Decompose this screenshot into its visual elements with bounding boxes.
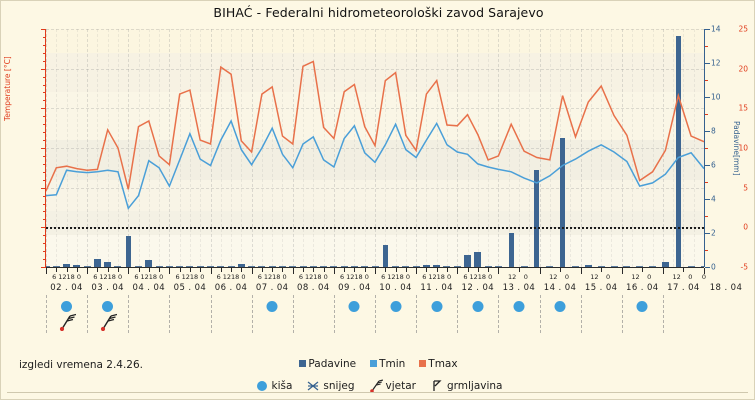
hour-label: 12 <box>99 273 107 281</box>
hour-label: 0 <box>565 273 569 281</box>
date-label: 07 . 04 <box>256 283 289 293</box>
date-label: 04 . 04 <box>133 283 166 293</box>
time-axis-tick <box>67 268 68 272</box>
hour-label: 18 <box>437 273 445 281</box>
hour-label: 12 <box>590 273 598 281</box>
axis-tick-minor <box>705 46 708 47</box>
date-label: 08 . 04 <box>297 283 330 293</box>
day-weather-symbols <box>267 301 278 312</box>
legend-label: snijeg <box>323 380 354 392</box>
time-axis-tick <box>478 268 479 272</box>
rain-drop-icon <box>349 301 360 312</box>
weather-forecast-chart-window: BIHAĆ - Federalni hidrometeorološki zavo… <box>0 0 755 400</box>
time-axis-tick <box>426 268 427 272</box>
axis-tick-minor <box>43 53 46 54</box>
day-separator <box>169 295 170 333</box>
hour-label: 0 <box>118 273 122 281</box>
time-axis-tick <box>488 268 489 272</box>
day-weather-symbols <box>99 301 117 331</box>
axis-tick-major <box>41 108 46 109</box>
date-label: 14 . 04 <box>544 283 577 293</box>
day-separator <box>46 295 47 333</box>
precipitation-tick-label: 14 <box>711 25 721 34</box>
legend-series-row: PadavineTminTmax <box>1 353 755 372</box>
axis-tick-minor <box>43 156 46 157</box>
tmin-line <box>46 121 704 208</box>
hour-label: 0 <box>524 273 528 281</box>
axis-tick-major <box>705 131 710 132</box>
day-weather-symbols <box>390 301 401 312</box>
zero-degree-line <box>46 227 704 229</box>
time-axis-tick <box>128 268 129 274</box>
time-axis-tick <box>622 268 623 274</box>
day-weather-symbols <box>555 301 566 312</box>
time-axis-tick <box>344 268 345 272</box>
hour-label: 6 <box>93 273 97 281</box>
axis-tick-major <box>705 233 710 234</box>
date-label: 18 . 04 <box>710 283 743 293</box>
time-axis-tick <box>221 268 222 272</box>
hour-label: 0 <box>241 273 245 281</box>
time-axis-tick <box>365 268 366 272</box>
day-separator <box>457 295 458 333</box>
day-weather-symbols <box>58 301 76 331</box>
axis-tick-major <box>41 227 46 228</box>
precipitation-tick-label: 8 <box>711 127 716 136</box>
time-axis-tick <box>396 268 397 272</box>
legend-swatch-icon <box>370 360 377 367</box>
time-axis-tick <box>56 268 57 272</box>
temperature-tick-label: 15 <box>738 104 748 113</box>
day-separator <box>663 295 664 333</box>
time-axis-tick <box>77 268 78 272</box>
rain-drop-icon <box>637 301 648 312</box>
legend-item-snijeg[interactable]: snijeg <box>306 379 354 393</box>
hour-label: 0 <box>606 273 610 281</box>
date-label: 06 . 04 <box>215 283 248 293</box>
precipitation-tick-label: 4 <box>711 195 716 204</box>
time-axis-tick <box>375 268 376 274</box>
hour-label: 6 <box>422 273 426 281</box>
time-axis-tick <box>303 268 304 272</box>
axis-tick-minor <box>705 80 708 81</box>
hour-label: 12 <box>182 273 190 281</box>
axis-tick-minor <box>705 250 708 251</box>
date-label: 03 . 04 <box>91 283 124 293</box>
axis-tick-major <box>41 69 46 70</box>
time-axis-tick <box>437 268 438 272</box>
hour-label: 6 <box>463 273 467 281</box>
temperature-axis <box>45 29 46 267</box>
hour-label: 18 <box>478 273 486 281</box>
hour-label: 0 <box>324 273 328 281</box>
time-axis-tick <box>180 268 181 272</box>
tmax-line <box>46 62 704 191</box>
footer-divider <box>7 392 748 393</box>
time-axis-tick <box>190 268 191 272</box>
legend-item-kiša[interactable]: kiša <box>255 379 293 393</box>
date-label: 13 . 04 <box>503 283 536 293</box>
time-axis-tick <box>252 268 253 274</box>
day-separator <box>293 295 294 333</box>
time-axis-tick <box>416 268 417 274</box>
precipitation-axis <box>704 29 705 267</box>
time-axis-tick <box>581 268 582 274</box>
temperature-tick-label: 10 <box>738 144 748 153</box>
day-weather-symbols <box>431 301 442 312</box>
hour-label: 12 <box>264 273 272 281</box>
axis-tick-minor <box>43 172 46 173</box>
day-weather-symbols <box>472 301 483 312</box>
hour-label: 6 <box>217 273 221 281</box>
wind-barb-icon <box>99 313 117 331</box>
hour-label: 12 <box>387 273 395 281</box>
time-axis-tick <box>118 268 119 272</box>
time-axis-tick <box>169 268 170 274</box>
hour-label: 12 <box>223 273 231 281</box>
hour-label: 0 <box>447 273 451 281</box>
hour-label: 12 <box>346 273 354 281</box>
hour-label: 12 <box>141 273 149 281</box>
axis-tick-minor <box>43 92 46 93</box>
time-axis-tick <box>663 268 664 274</box>
temperature-tick-label: 20 <box>738 64 748 73</box>
axis-tick-minor <box>43 85 46 86</box>
time-axis-tick <box>159 268 160 272</box>
axis-tick-minor <box>43 77 46 78</box>
day-weather-symbols <box>637 301 648 312</box>
legend-label: kiša <box>272 380 293 392</box>
time-axis-tick <box>498 268 499 274</box>
hour-label: 18 <box>354 273 362 281</box>
precipitation-tick-label: 6 <box>711 161 716 170</box>
hour-label: 18 <box>231 273 239 281</box>
rain-drop-icon <box>61 301 72 312</box>
time-axis-tick <box>87 268 88 274</box>
legend-label: Tmin <box>379 358 405 370</box>
day-separator <box>87 295 88 333</box>
precipitation-tick-label: 10 <box>711 93 721 102</box>
time-axis-tick <box>642 268 643 272</box>
hour-label: 12 <box>58 273 66 281</box>
hour-label: 12 <box>305 273 313 281</box>
day-separator <box>416 295 417 333</box>
axis-tick-minor <box>43 196 46 197</box>
day-separator <box>622 295 623 333</box>
time-axis-tick <box>519 268 520 272</box>
time-axis-tick <box>560 268 561 272</box>
wind-barb-icon <box>369 379 383 393</box>
axis-tick-minor <box>705 114 708 115</box>
legend-item-grmljavina[interactable]: grmljavina <box>430 379 503 393</box>
axis-tick-major <box>705 199 710 200</box>
axis-tick-minor <box>43 259 46 260</box>
axis-tick-minor <box>43 204 46 205</box>
axis-tick-minor <box>43 100 46 101</box>
temperature-curves <box>46 29 704 267</box>
hour-label: 0 <box>688 273 692 281</box>
hour-label: 6 <box>340 273 344 281</box>
hour-label: 12 <box>508 273 516 281</box>
hour-label: 12 <box>672 273 680 281</box>
hour-label: 18 <box>108 273 116 281</box>
time-axis-tick <box>282 268 283 272</box>
axis-tick-minor <box>43 132 46 133</box>
day-weather-symbols <box>513 301 524 312</box>
legend-label: vjetar <box>386 380 416 392</box>
time-axis-tick <box>211 268 212 274</box>
precipitation-tick-label: 2 <box>711 229 716 238</box>
axis-tick-minor <box>43 164 46 165</box>
rain-drop-icon <box>513 301 524 312</box>
hour-label: 0 <box>406 273 410 281</box>
date-label: 15 . 04 <box>585 283 618 293</box>
hour-label: 6 <box>52 273 56 281</box>
hour-label: 0 <box>365 273 369 281</box>
rain-drop-icon <box>267 301 278 312</box>
time-axis-tick <box>139 268 140 272</box>
rain-drop-icon <box>102 301 113 312</box>
hour-label: 12 <box>549 273 557 281</box>
hour-label: 0 <box>200 273 204 281</box>
page-title: BIHAĆ - Federalni hidrometeorološki zavo… <box>1 5 755 20</box>
date-label: 05 . 04 <box>174 283 207 293</box>
rain-drop-icon <box>390 301 401 312</box>
hour-label: 6 <box>134 273 138 281</box>
axis-tick-major <box>705 165 710 166</box>
time-axis-tick <box>540 268 541 274</box>
time-axis-tick <box>272 268 273 272</box>
time-axis-tick <box>406 268 407 272</box>
temperature-tick-label: 0 <box>743 223 748 232</box>
axis-tick-minor <box>43 37 46 38</box>
axis-tick-major <box>705 97 710 98</box>
axis-tick-major <box>41 148 46 149</box>
legend-item-tmin[interactable]: Tmin <box>370 358 405 370</box>
hour-label: 0 <box>282 273 286 281</box>
hour-label: 18 <box>313 273 321 281</box>
hour-label: 6 <box>176 273 180 281</box>
rain-drop-icon <box>255 379 269 393</box>
time-axis-tick <box>262 268 263 272</box>
precipitation-tick-label: 12 <box>711 59 721 68</box>
axis-tick-minor <box>43 219 46 220</box>
hour-label: 12 <box>428 273 436 281</box>
time-axis-tick <box>683 268 684 272</box>
legend-item-padavine[interactable]: Padavine <box>299 358 356 370</box>
time-axis-tick <box>313 268 314 272</box>
hour-label: 6 <box>299 273 303 281</box>
legend-label: Padavine <box>308 358 356 370</box>
temperature-axis-title: Temperature [°C] <box>3 56 12 121</box>
temperature-tick-label: -5 <box>741 263 748 272</box>
time-axis-tick <box>200 268 201 272</box>
axis-tick-minor <box>43 61 46 62</box>
axis-tick-major <box>705 267 710 268</box>
day-separator <box>375 295 376 333</box>
legend-item-vjetar[interactable]: vjetar <box>369 379 416 393</box>
time-axis-tick <box>46 268 47 274</box>
hour-label: 0 <box>647 273 651 281</box>
hour-label: 0 <box>77 273 81 281</box>
legend-swatch-icon <box>299 360 306 367</box>
axis-tick-minor <box>705 148 708 149</box>
axis-tick-minor <box>43 243 46 244</box>
axis-tick-major <box>41 29 46 30</box>
hour-label: 18 <box>67 273 75 281</box>
wind-barb-icon <box>58 313 76 331</box>
date-label: 12 . 04 <box>462 283 495 293</box>
legend-label: Tmax <box>428 358 457 370</box>
date-label: 09 . 04 <box>338 283 371 293</box>
axis-tick-minor <box>43 180 46 181</box>
hour-label: 12 <box>470 273 478 281</box>
date-label: 17 . 04 <box>667 283 700 293</box>
axis-tick-major <box>705 63 710 64</box>
day-separator <box>581 295 582 333</box>
hour-label: 18 <box>149 273 157 281</box>
temperature-tick-label: 25 <box>738 25 748 34</box>
time-axis-tick <box>293 268 294 274</box>
date-label: 16 . 04 <box>626 283 659 293</box>
precipitation-tick-label: 0 <box>711 263 716 272</box>
axis-tick-minor <box>705 216 708 217</box>
time-axis-tick <box>385 268 386 272</box>
chart-plot-area <box>46 29 704 267</box>
time-axis-tick <box>149 268 150 272</box>
axis-tick-minor <box>705 182 708 183</box>
hour-label: 6 <box>381 273 385 281</box>
axis-tick-major <box>41 188 46 189</box>
hour-label: 18 <box>190 273 198 281</box>
day-separator <box>252 295 253 333</box>
time-axis-tick <box>97 268 98 272</box>
time-axis-tick <box>601 268 602 272</box>
day-separator <box>498 295 499 333</box>
time-axis-tick <box>468 268 469 272</box>
hour-label: 0 <box>488 273 492 281</box>
day-separator <box>211 295 212 333</box>
hour-label: 0 <box>702 273 706 281</box>
date-label: 11 . 04 <box>420 283 453 293</box>
legend-swatch-icon <box>419 360 426 367</box>
time-axis-tick <box>334 268 335 274</box>
day-separator <box>334 295 335 333</box>
legend-item-tmax[interactable]: Tmax <box>419 358 457 370</box>
legend-label: grmljavina <box>447 380 503 392</box>
hour-label: 6 <box>258 273 262 281</box>
date-label: 10 . 04 <box>379 283 412 293</box>
time-axis-tick <box>108 268 109 272</box>
day-separator <box>540 295 541 333</box>
rain-drop-icon <box>431 301 442 312</box>
hour-label: 0 <box>159 273 163 281</box>
rain-drop-icon <box>555 301 566 312</box>
day-separator <box>128 295 129 333</box>
axis-tick-minor <box>43 116 46 117</box>
axis-tick-minor <box>43 251 46 252</box>
axis-tick-minor <box>43 211 46 212</box>
axis-tick-minor <box>43 140 46 141</box>
time-axis-tick <box>324 268 325 272</box>
time-axis-tick <box>231 268 232 272</box>
snowflake-icon <box>306 379 320 393</box>
time-axis <box>46 267 704 268</box>
time-axis-tick <box>447 268 448 272</box>
date-label: 02 . 04 <box>50 283 83 293</box>
axis-tick-minor <box>43 124 46 125</box>
axis-tick-minor <box>43 235 46 236</box>
rain-drop-icon <box>472 301 483 312</box>
hour-label: 12 <box>631 273 639 281</box>
time-axis-tick <box>241 268 242 272</box>
thunder-icon <box>430 379 444 393</box>
hour-label: 18 <box>396 273 404 281</box>
hour-label: 18 <box>272 273 280 281</box>
day-weather-symbols <box>349 301 360 312</box>
axis-tick-major <box>705 29 710 30</box>
time-axis-tick <box>457 268 458 274</box>
time-axis-tick <box>354 268 355 272</box>
temperature-tick-label: 5 <box>743 183 748 192</box>
axis-tick-minor <box>43 45 46 46</box>
chart-legend: PadavineTminTmax kišasnijegvjetargrmljav… <box>1 353 755 394</box>
